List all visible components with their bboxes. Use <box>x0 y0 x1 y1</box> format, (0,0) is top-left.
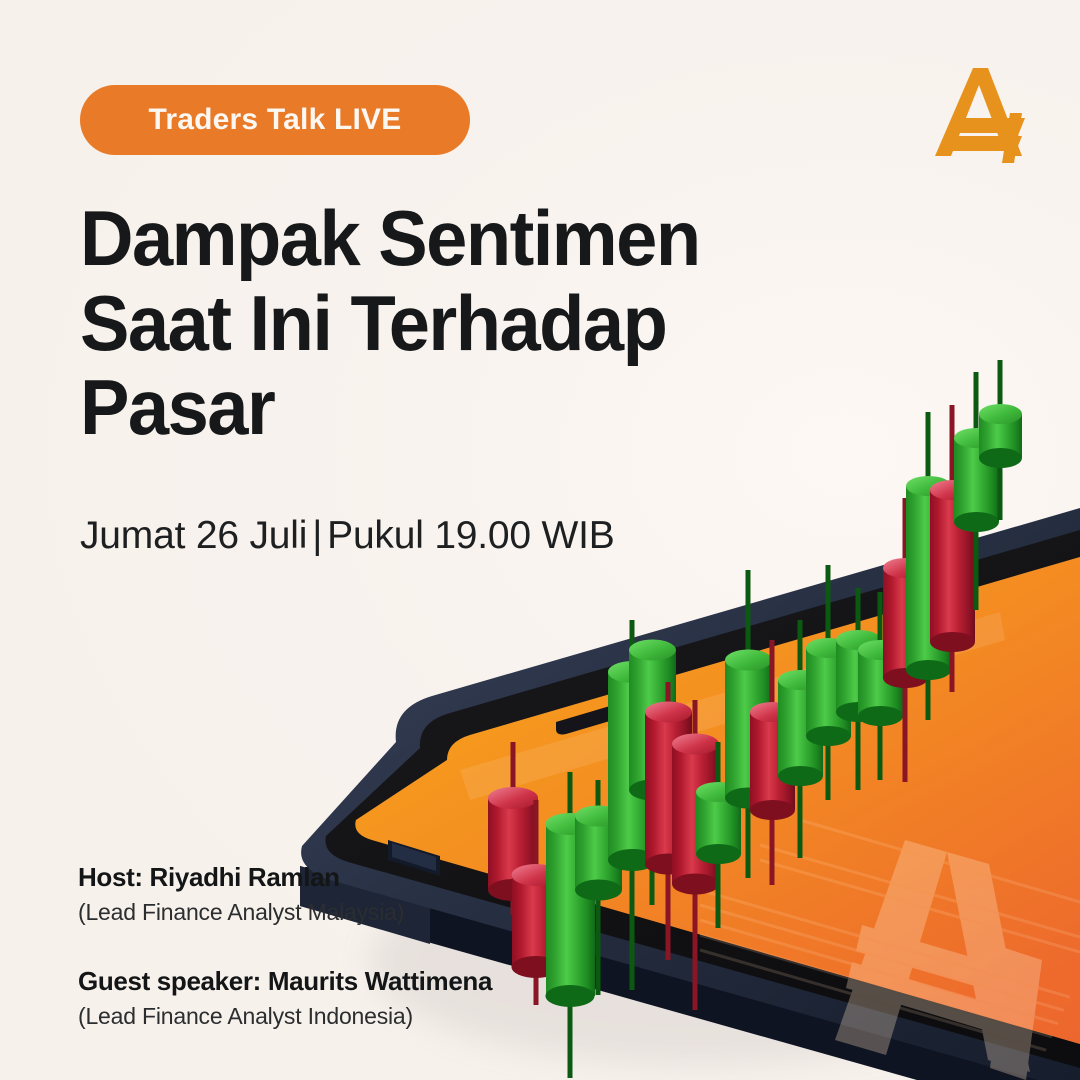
candle-18 <box>930 405 975 692</box>
candle-11 <box>750 640 795 885</box>
event-schedule: Jumat 26 Juli|Pukul 19.00 WIB <box>80 514 615 558</box>
host-role: (Lead Finance Analyst Malaysia) <box>78 899 558 926</box>
headline-line-2: Saat Ini Terhadap <box>80 281 764 366</box>
ascendex-a-logo-icon <box>926 58 1038 166</box>
candle-19 <box>954 372 999 610</box>
candle-17 <box>906 412 951 720</box>
host-name: Host: Riyadhi Ramlan <box>78 862 558 893</box>
speaker-host: Host: Riyadhi Ramlan (Lead Finance Analy… <box>78 862 558 926</box>
candle-5 <box>608 620 657 990</box>
screen-watermark-logo <box>700 820 1080 1080</box>
live-badge[interactable]: Traders Talk LIVE <box>80 85 470 155</box>
candle-4 <box>575 780 622 995</box>
event-date: Jumat 26 Juli <box>80 514 307 557</box>
schedule-separator: | <box>307 514 327 558</box>
candle-16 <box>883 498 928 782</box>
live-badge-label: Traders Talk LIVE <box>149 103 402 137</box>
candle-13 <box>806 565 851 800</box>
candle-12 <box>778 620 823 858</box>
candlestick-series <box>488 360 1022 1078</box>
headline-line-3: Pasar <box>80 365 764 450</box>
guest-name: Guest speaker: Maurits Wattimena <box>78 966 558 997</box>
page-title: Dampak Sentimen Saat Ini Terhadap Pasar <box>80 196 800 450</box>
candle-7 <box>645 682 692 960</box>
candle-15 <box>858 592 903 780</box>
poster-canvas: Traders Talk LIVE Dampak Sentimen Saat I… <box>0 0 1080 1080</box>
candle-14 <box>836 588 881 790</box>
speaker-guest: Guest speaker: Maurits Wattimena (Lead F… <box>78 966 558 1030</box>
event-time: Pukul 19.00 WIB <box>327 514 614 557</box>
headline-line-1: Dampak Sentimen <box>80 196 764 281</box>
speaker-list: Host: Riyadhi Ramlan (Lead Finance Analy… <box>78 862 558 1030</box>
candle-20 <box>979 360 1022 520</box>
candle-6 <box>629 640 676 906</box>
candle-8 <box>672 700 719 1010</box>
candle-9 <box>696 742 741 928</box>
guest-role: (Lead Finance Analyst Indonesia) <box>78 1003 558 1030</box>
candle-10 <box>725 570 772 878</box>
